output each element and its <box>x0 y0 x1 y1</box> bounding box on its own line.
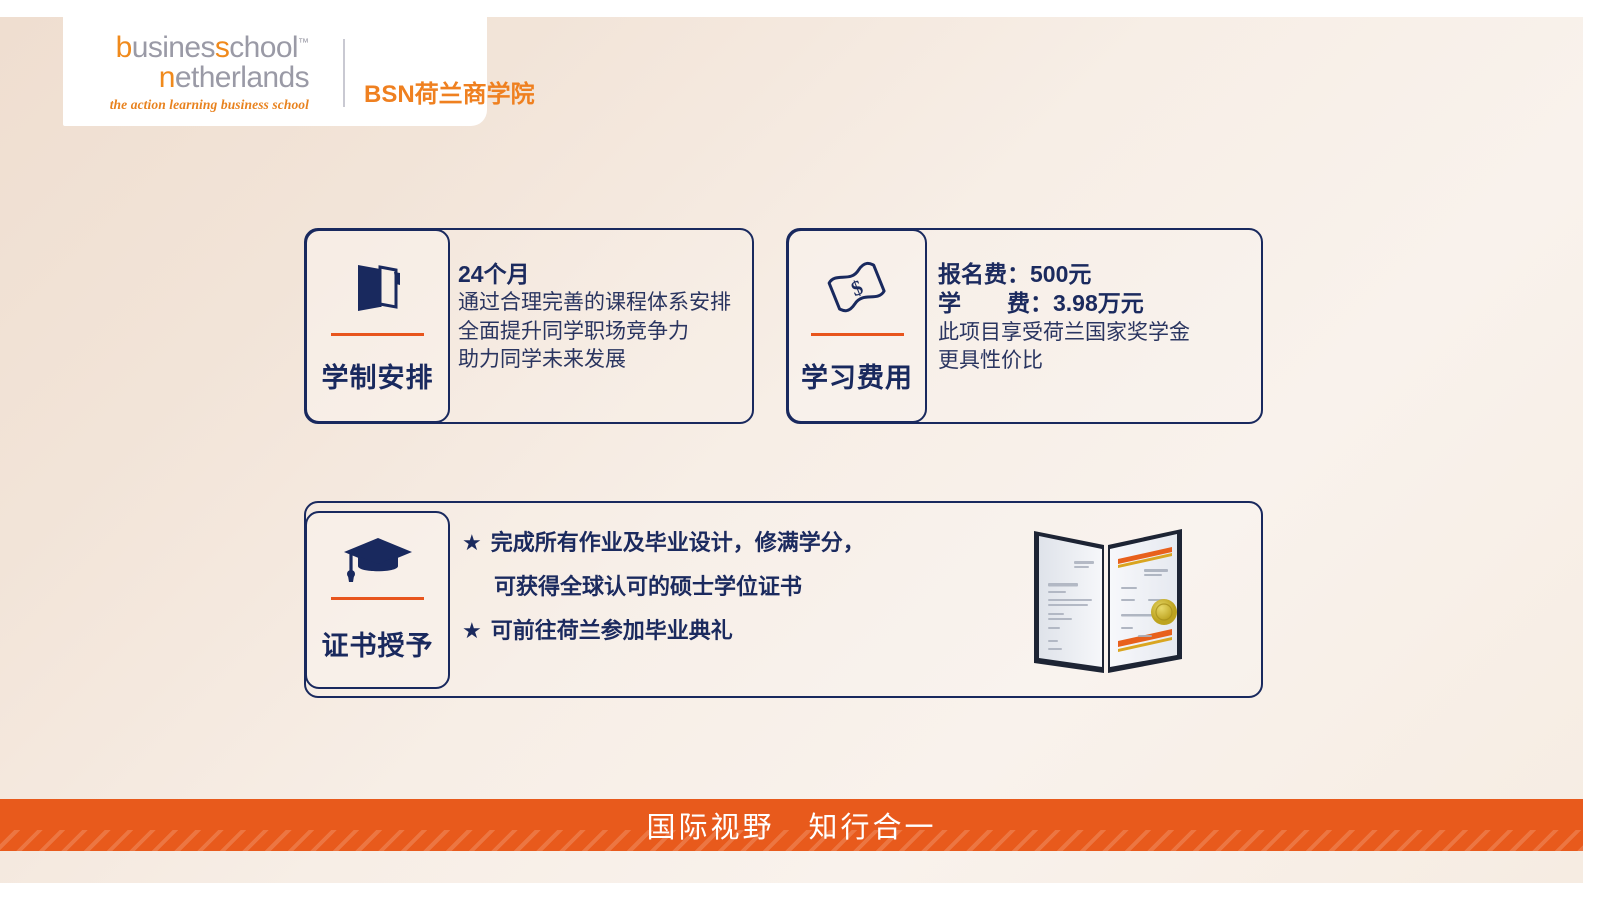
fee-note-1: 此项目享受荷兰国家奖学金 <box>938 319 1258 347</box>
badge-accent-rule <box>331 333 424 336</box>
open-book-icon-svg <box>350 257 406 319</box>
diploma-folder-svg <box>1026 517 1194 685</box>
cert-bullet-1-cont-text: 可获得全球认可的硕士学位证书 <box>494 574 802 599</box>
fee-registration: 报名费：500元 <box>938 260 1258 289</box>
fee-tuition: 学 费：3.98万元 <box>938 289 1258 318</box>
cert-bullet-2-text: 可前往荷兰参加毕业典礼 <box>491 618 733 643</box>
cert-bullet-1-cont: 可获得全球认可的硕士学位证书 <box>462 576 932 598</box>
logo-chinese-name: BSN荷兰商学院 <box>364 74 535 109</box>
svg-text:$: $ <box>848 275 867 301</box>
duration-headline: 24个月 <box>458 260 748 289</box>
logo-char-n: n <box>159 61 175 94</box>
footer-slogan: 国际视野 知行合一 <box>0 799 1583 851</box>
card-body-certificate: ★完成所有作业及毕业设计，修满学分， 可获得全球认可的硕士学位证书 ★可前往荷兰… <box>462 532 932 664</box>
logo-text-usines: usines <box>132 31 215 64</box>
graduation-cap-icon <box>342 527 414 589</box>
footer-banner: 国际视野 知行合一 <box>0 799 1583 851</box>
star-icon: ★ <box>462 530 482 555</box>
badge-certificate: 证书授予 <box>305 511 450 689</box>
banknote-icon: $ <box>825 249 889 327</box>
diploma-folder-image <box>1026 517 1194 685</box>
badge-duration: 学制安排 <box>305 229 450 423</box>
badge-label-certificate: 证书授予 <box>322 624 434 663</box>
badge-fee: $ 学习费用 <box>787 229 927 423</box>
badge-label-fee: 学习费用 <box>801 356 913 395</box>
open-book-icon <box>350 249 406 327</box>
banknote-icon-svg: $ <box>825 257 889 319</box>
badge-accent-rule <box>331 597 424 600</box>
footer-slogan-left: 国际视野 <box>646 804 774 846</box>
slide-canvas: businesschool™ netherlands the action le… <box>0 17 1583 883</box>
cert-bullet-2: ★可前往荷兰参加毕业典礼 <box>462 620 932 642</box>
fee-note-2: 更具性价比 <box>938 347 1258 375</box>
logo-wordmark: businesschool™ netherlands the action le… <box>87 33 309 112</box>
footer-slogan-right: 知行合一 <box>809 804 937 846</box>
logo-divider <box>343 39 345 107</box>
logo-text-chool: chool <box>229 31 298 64</box>
logo-text-etherlands: etherlands <box>175 61 309 94</box>
trademark-icon: ™ <box>298 37 309 49</box>
badge-accent-rule <box>811 333 904 336</box>
badge-label-duration: 学制安排 <box>322 356 434 395</box>
card-body-fee: 报名费：500元 学 费：3.98万元 此项目享受荷兰国家奖学金 更具性价比 <box>938 260 1258 376</box>
brand-logo-panel: businesschool™ netherlands the action le… <box>63 17 487 126</box>
graduation-cap-icon-svg <box>342 532 414 584</box>
card-body-duration: 24个月 通过合理完善的课程体系安排 全面提升同学职场竞争力 助力同学未来发展 <box>458 260 748 374</box>
duration-line-1: 通过合理完善的课程体系安排 <box>458 289 748 317</box>
duration-line-3: 助力同学未来发展 <box>458 346 748 374</box>
logo-char-s: s <box>215 31 229 64</box>
cert-bullet-1-text: 完成所有作业及毕业设计，修满学分， <box>491 530 865 555</box>
duration-line-2: 全面提升同学职场竞争力 <box>458 318 748 346</box>
logo-line-one: businesschool™ <box>87 33 309 63</box>
logo-char-b: b <box>116 31 132 64</box>
star-icon: ★ <box>462 618 482 643</box>
cert-bullet-1: ★完成所有作业及毕业设计，修满学分， <box>462 532 932 554</box>
logo-tagline: the action learning business school <box>87 98 309 112</box>
logo-line-two: netherlands <box>87 63 309 93</box>
